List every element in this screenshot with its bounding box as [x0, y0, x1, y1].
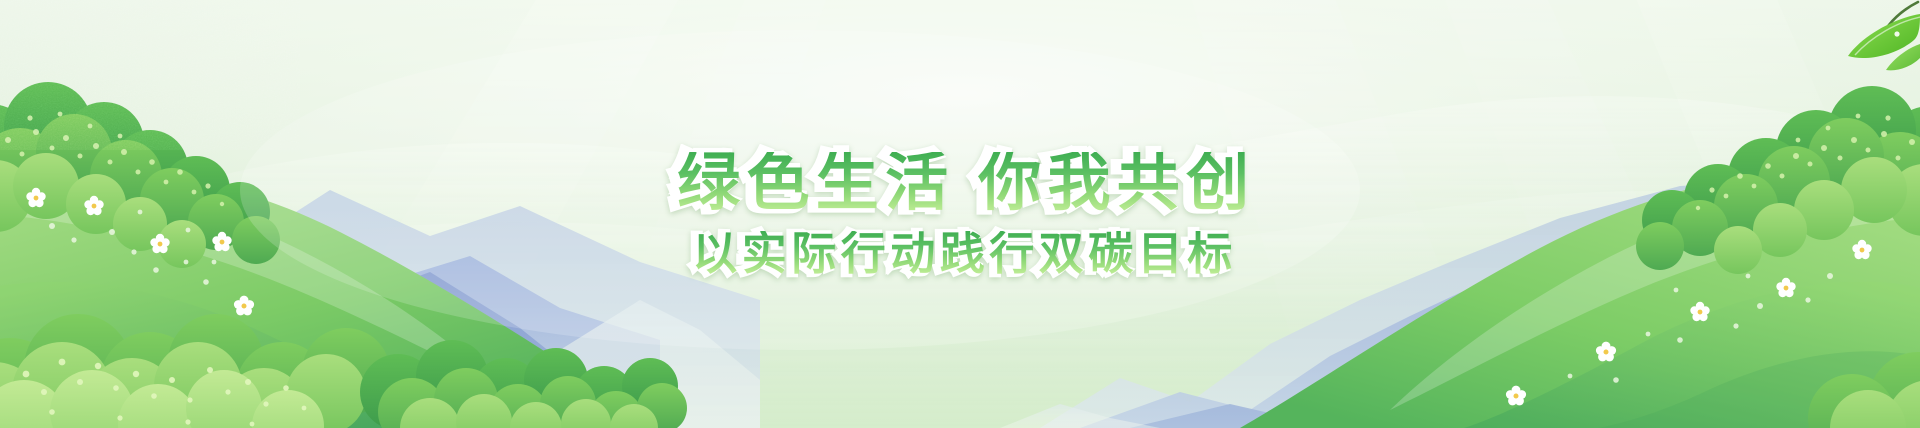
headline-backdrop-glow	[240, 30, 1360, 350]
bush-cluster-left-bottom	[0, 314, 390, 428]
banner-illustration	[0, 0, 1920, 428]
eco-campaign-banner: 绿色生活 你我共创 绿色生活 你我共创 以实际行动践行双碳目标 以实际行动践行双…	[0, 0, 1920, 428]
